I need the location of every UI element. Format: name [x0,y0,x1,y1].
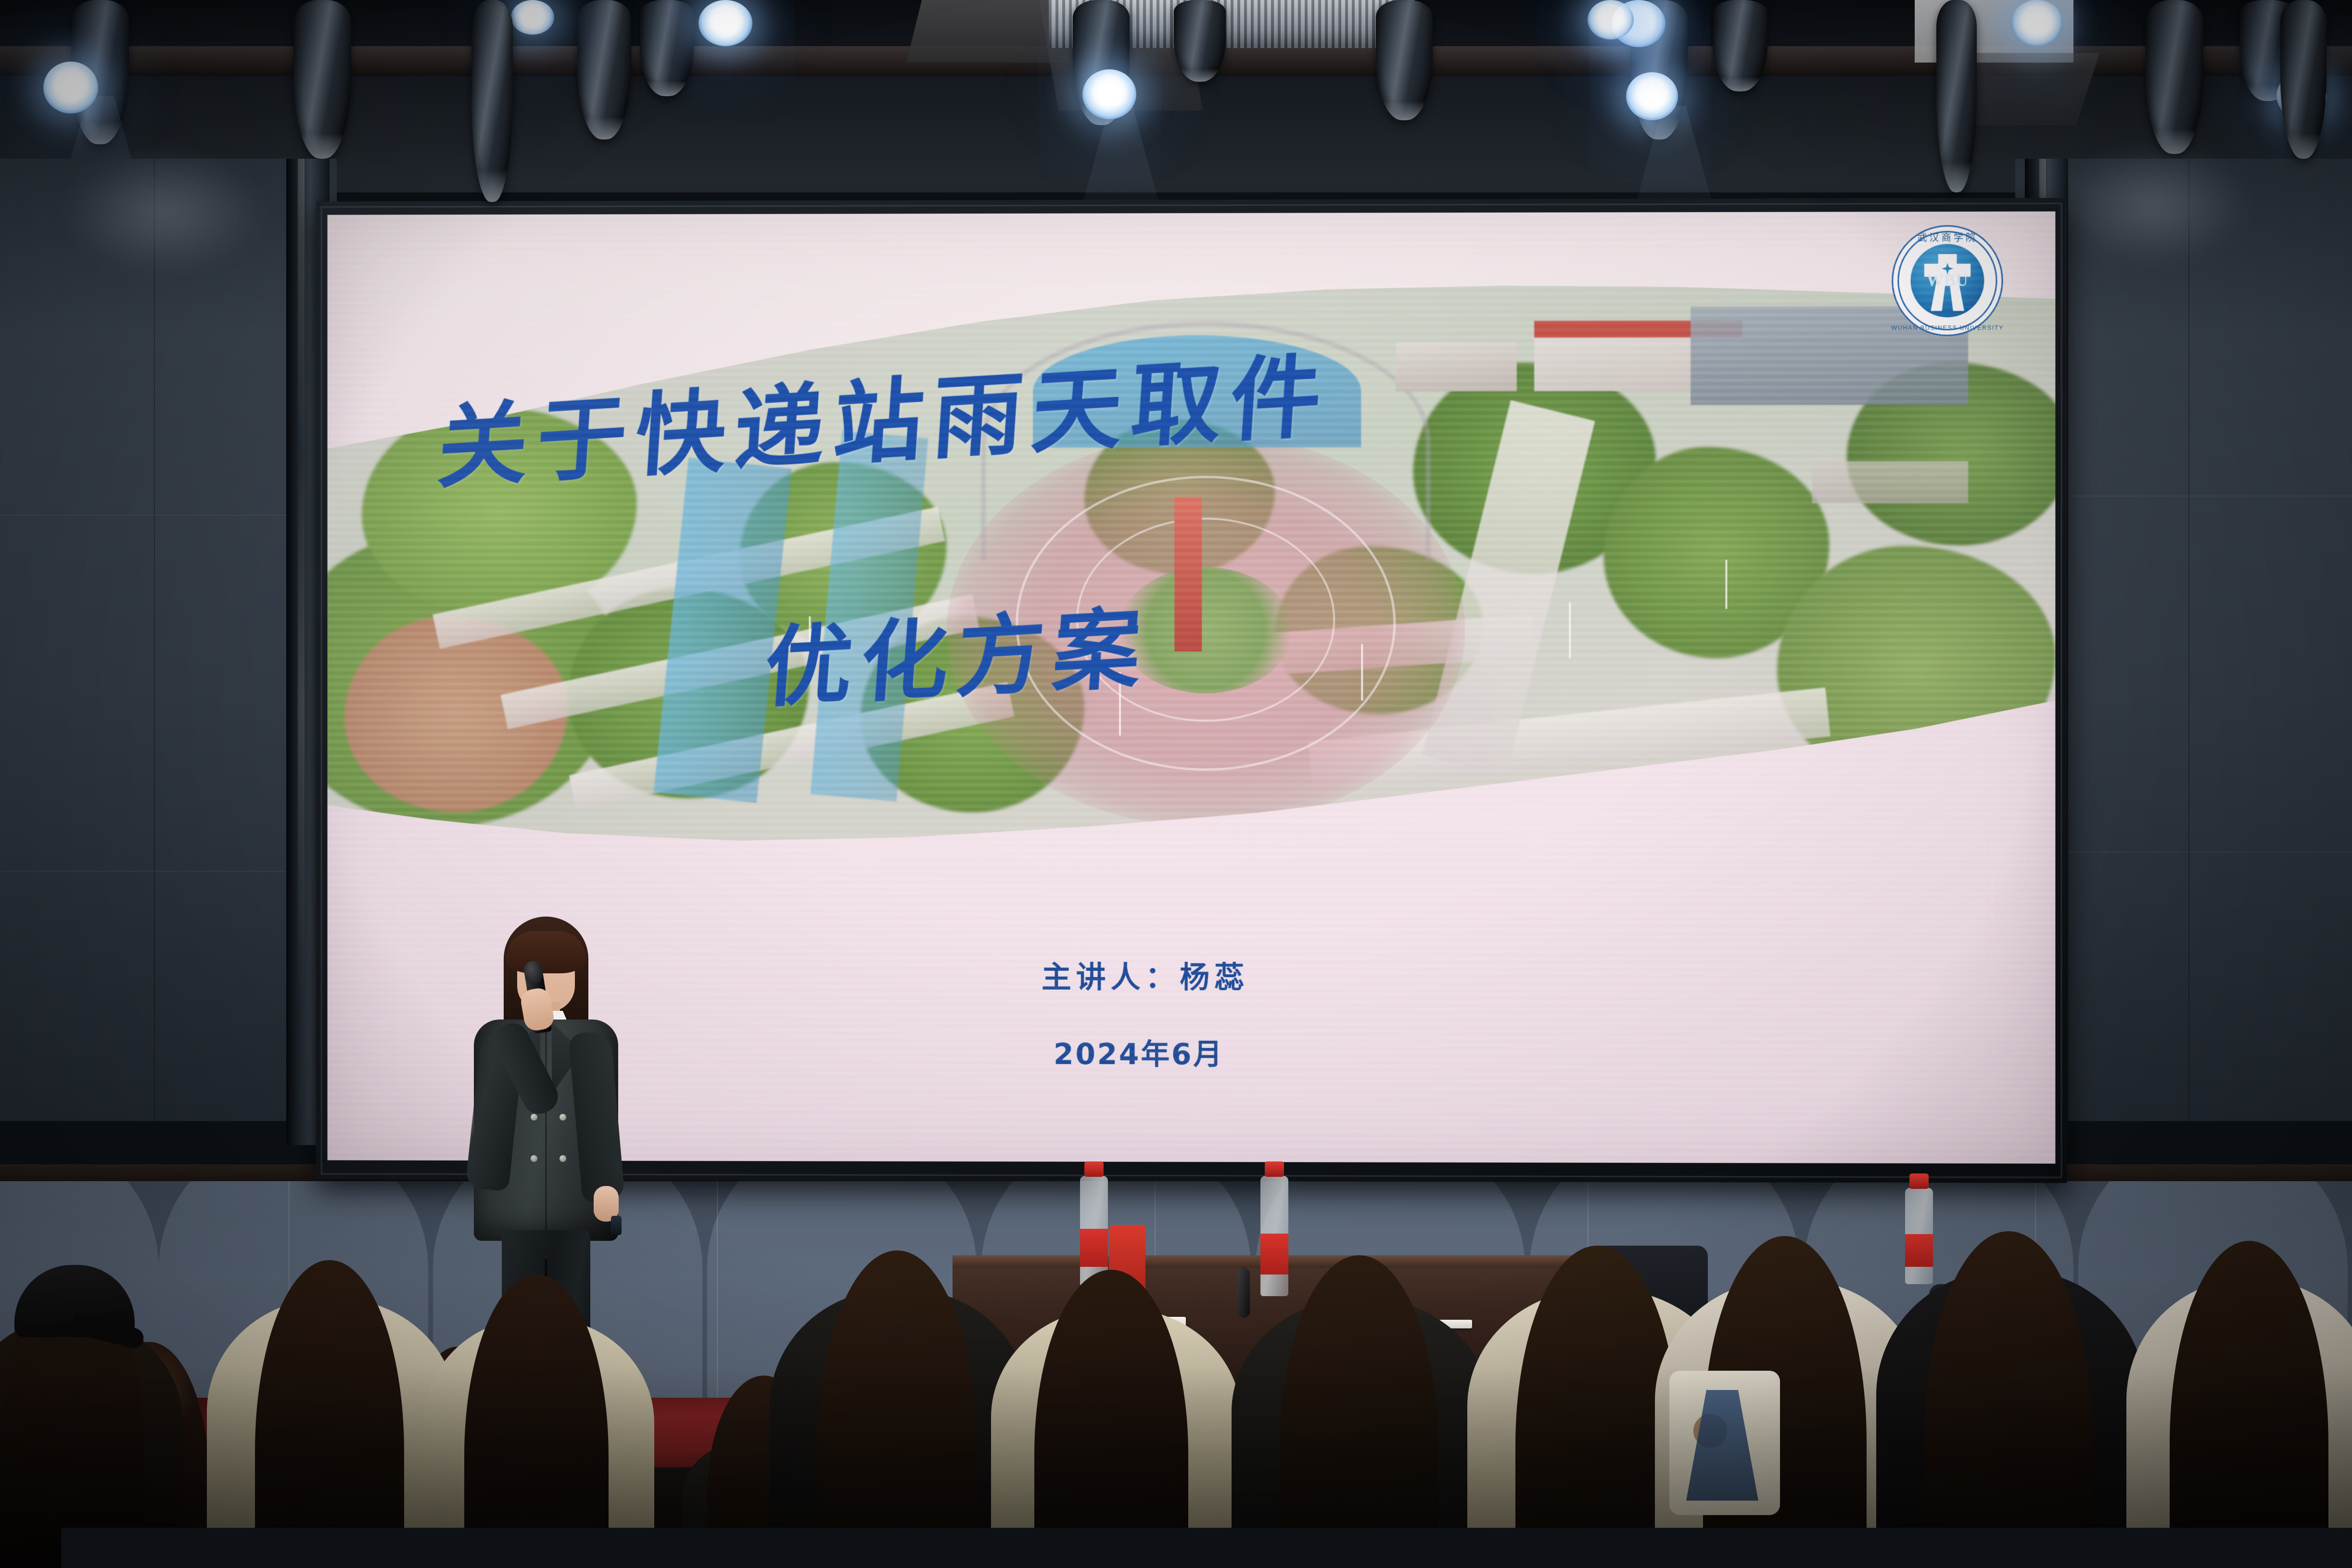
audience-head [1034,1270,1188,1568]
stage-light-fixture [577,0,631,140]
lamp-glow [511,0,554,35]
slide-presenter-label: 主讲人：杨蕊 [1042,953,1249,996]
university-emblem-icon: 武汉商学院 WBU WUHAN BUSINESS UNIVERSITY [1892,225,2003,336]
audience-head [1280,1255,1438,1568]
stage-light-fixture [1713,0,1767,91]
stage-light-fixture [2146,0,2203,154]
auditorium-photo: 关于快递站雨天取件 优化方案 主讲人：杨蕊 2024年6月 武汉商学院 WBU … [0,0,2352,1568]
stage-light-fixture [1376,0,1433,120]
stage-light-fixture [471,0,513,202]
stage-light-fixture [2280,0,2327,159]
emblem-initials: WBU [1927,271,1969,290]
slide-date-label: 2024年6月 [1054,1031,1224,1073]
emblem-english-name: WUHAN BUSINESS UNIVERSITY [1891,324,2004,331]
lamp-glow [699,0,752,46]
lamp-glow [1626,72,1678,120]
lamp-glow [2011,0,2063,46]
presenter-fringe [506,931,586,973]
emblem-chinese-name: 武汉商学院 [1917,229,1978,243]
stage-light-fixture [1936,0,1977,192]
audience-rows [0,1135,2352,1568]
lamp-glow [1588,0,1634,39]
stage-light-fixture [640,0,694,96]
lamp-glow [1082,69,1136,119]
stage-light-fixture [1174,0,1226,82]
stage-light-fixture [293,0,351,159]
lamp-glow [43,62,98,114]
audience-head [1515,1246,1679,1568]
slide-title-line-2: 优化方案 [761,577,1154,724]
audience-head [464,1275,609,1568]
